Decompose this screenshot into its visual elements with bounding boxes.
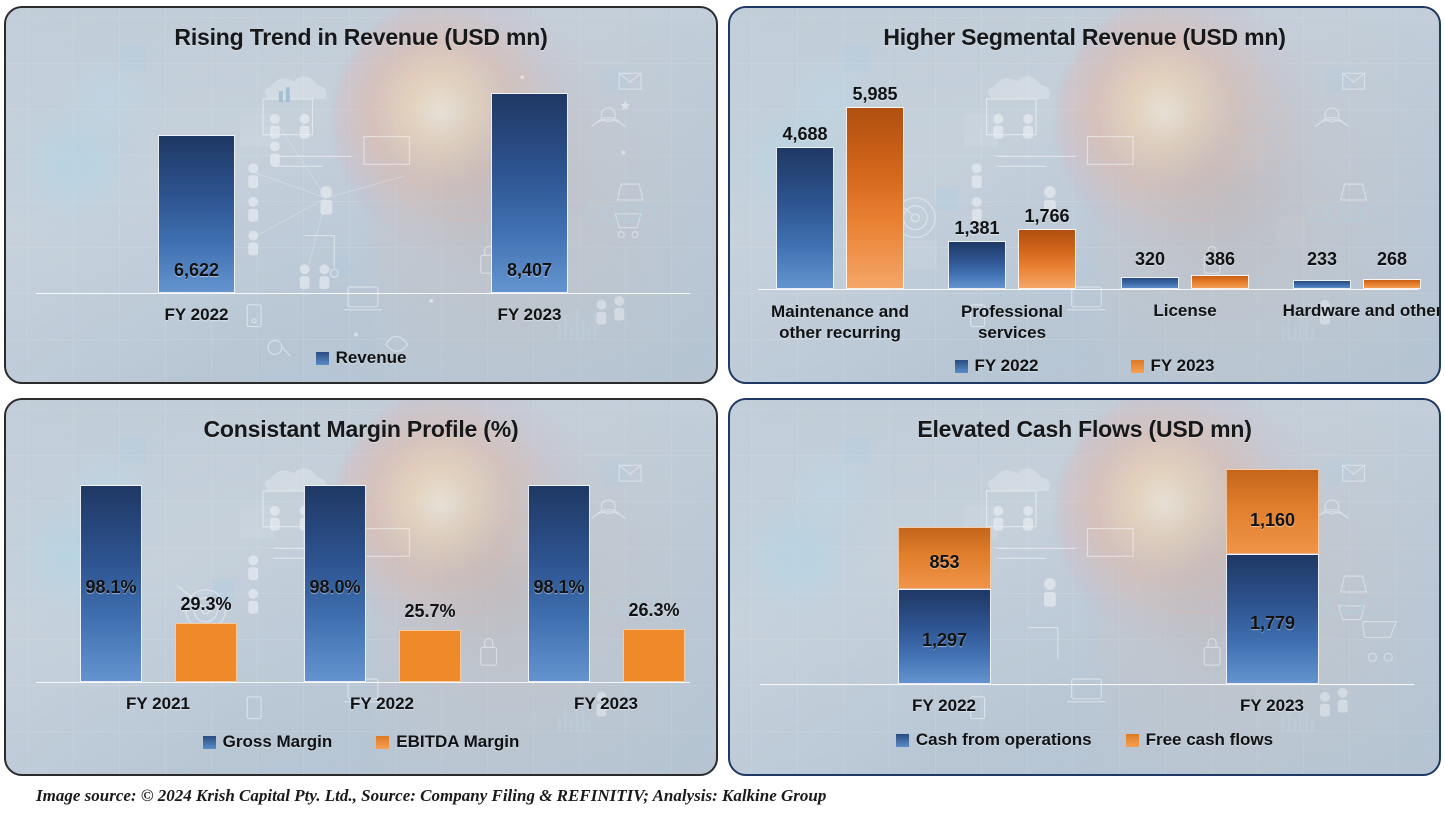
x-axis-line <box>760 684 1414 685</box>
bar-value-label: 1,779 <box>1226 613 1319 634</box>
bar-fy2023-license <box>1191 275 1249 289</box>
bar-ebitda-margin-fy2022 <box>399 630 461 682</box>
bar-value-label: 25.7% <box>394 601 466 622</box>
legend-swatch-blue-icon <box>896 734 909 747</box>
legend-item-gross-margin[interactable]: Gross Margin <box>203 732 333 752</box>
bar-ebitda-margin-fy2023 <box>623 629 685 682</box>
x-axis-line <box>758 289 1418 290</box>
legend-label: FY 2022 <box>975 356 1039 376</box>
bar-ebitda-margin-fy2021 <box>175 623 237 682</box>
panel-consistant-margin-profile: Consistant Margin Profile (%) 98.1% 29.3… <box>4 398 718 776</box>
bar-value-label: 1,766 <box>1008 206 1086 227</box>
bar-value-label: 98.0% <box>299 577 371 598</box>
legend-item-free-cash-flows[interactable]: Free cash flows <box>1126 730 1274 750</box>
image-source-footer: Image source: © 2024 Krish Capital Pty. … <box>36 786 826 806</box>
legend-swatch-blue-icon <box>203 736 216 749</box>
infographic-sheet: Rising Trend in Revenue (USD mn) 6,622 8… <box>0 0 1445 814</box>
bar-value-label: 853 <box>898 552 991 573</box>
legend-item-fy2023[interactable]: FY 2023 <box>1131 356 1215 376</box>
legend-revenue: Revenue <box>6 348 716 368</box>
bar-value-label: 1,297 <box>898 630 991 651</box>
category-label-fy2021: FY 2021 <box>98 694 218 714</box>
page-title: Elevated Cash Flows (USD mn) <box>730 416 1439 443</box>
category-label-fy2023: FY 2023 <box>471 305 588 325</box>
bar-value-label: 320 <box>1111 249 1189 270</box>
legend-label: Gross Margin <box>223 732 333 752</box>
legend-item-ebitda-margin[interactable]: EBITDA Margin <box>376 732 519 752</box>
page-title: Higher Segmental Revenue (USD mn) <box>730 24 1439 51</box>
category-label-fy2023: FY 2023 <box>546 694 666 714</box>
legend-label: EBITDA Margin <box>396 732 519 752</box>
legend-label: Cash from operations <box>916 730 1092 750</box>
page-title: Consistant Margin Profile (%) <box>6 416 716 443</box>
legend-label: FY 2023 <box>1151 356 1215 376</box>
category-label-hardware: Hardware and other <box>1270 301 1441 321</box>
category-label-license: License <box>1115 301 1255 321</box>
category-label-fy2022: FY 2022 <box>322 694 442 714</box>
bar-value-label: 98.1% <box>75 577 147 598</box>
category-label-fy2022: FY 2022 <box>884 696 1004 716</box>
bar-value-label: 6,622 <box>158 260 235 281</box>
bar-fy2022-license <box>1121 277 1179 289</box>
bar-fy2023-professional <box>1018 229 1076 289</box>
category-label-maintenance: Maintenance and other recurring <box>760 301 920 344</box>
bar-value-label: 268 <box>1353 249 1431 270</box>
category-label-professional: Professional services <box>942 301 1082 344</box>
bar-fy2022-hardware <box>1293 280 1351 289</box>
bar-value-label: 233 <box>1283 249 1361 270</box>
bar-value-label: 8,407 <box>491 260 568 281</box>
legend-label: Revenue <box>336 348 407 368</box>
bar-value-label: 386 <box>1181 249 1259 270</box>
legend-swatch-blue-icon <box>955 360 968 373</box>
category-label-fy2023: FY 2023 <box>1212 696 1332 716</box>
legend-swatch-orange-icon <box>1126 734 1139 747</box>
plot-area-segmental: 4,688 5,985 1,381 1,766 320 386 233 268 … <box>758 64 1418 289</box>
bar-value-label: 26.3% <box>618 600 690 621</box>
bar-value-label: 29.3% <box>170 594 242 615</box>
panel-elevated-cash-flows: Elevated Cash Flows (USD mn) 1,297 853 1… <box>728 398 1441 776</box>
x-axis-line <box>36 682 690 683</box>
bar-value-label: 4,688 <box>766 124 844 145</box>
legend-margin: Gross Margin EBITDA Margin <box>6 732 716 752</box>
legend-swatch-orange-icon <box>376 736 389 749</box>
panel-higher-segmental-revenue: Higher Segmental Revenue (USD mn) 4,688 … <box>728 6 1441 384</box>
bar-value-label: 98.1% <box>523 577 595 598</box>
legend-segmental: FY 2022 FY 2023 <box>730 356 1439 376</box>
category-label-fy2022: FY 2022 <box>138 305 255 325</box>
bar-fy2022-professional <box>948 241 1006 289</box>
page-title: Rising Trend in Revenue (USD mn) <box>6 24 716 51</box>
x-axis-line <box>36 293 690 294</box>
bar-fy2022-maintenance <box>776 147 834 289</box>
legend-swatch-orange-icon <box>1131 360 1144 373</box>
bar-value-label: 5,985 <box>836 84 914 105</box>
bar-fy2023-hardware <box>1363 279 1421 289</box>
legend-item-fy2022[interactable]: FY 2022 <box>955 356 1039 376</box>
plot-area-margin: 98.1% 29.3% 98.0% 25.7% 98.1% 26.3% FY 2… <box>36 460 690 682</box>
legend-swatch-blue-icon <box>316 352 329 365</box>
legend-item-revenue[interactable]: Revenue <box>316 348 407 368</box>
plot-area-revenue: 6,622 8,407 FY 2022 FY 2023 <box>36 68 690 293</box>
bar-fy2023-maintenance <box>846 107 904 289</box>
bar-value-label: 1,160 <box>1226 510 1319 531</box>
panel-rising-trend-in-revenue: Rising Trend in Revenue (USD mn) 6,622 8… <box>4 6 718 384</box>
plot-area-cashflow: 1,297 853 1,779 1,160 FY 2022 FY 2023 <box>760 458 1414 684</box>
legend-label: Free cash flows <box>1146 730 1274 750</box>
bar-value-label: 1,381 <box>938 218 1016 239</box>
legend-item-cash-from-operations[interactable]: Cash from operations <box>896 730 1092 750</box>
legend-cashflow: Cash from operations Free cash flows <box>730 730 1439 750</box>
